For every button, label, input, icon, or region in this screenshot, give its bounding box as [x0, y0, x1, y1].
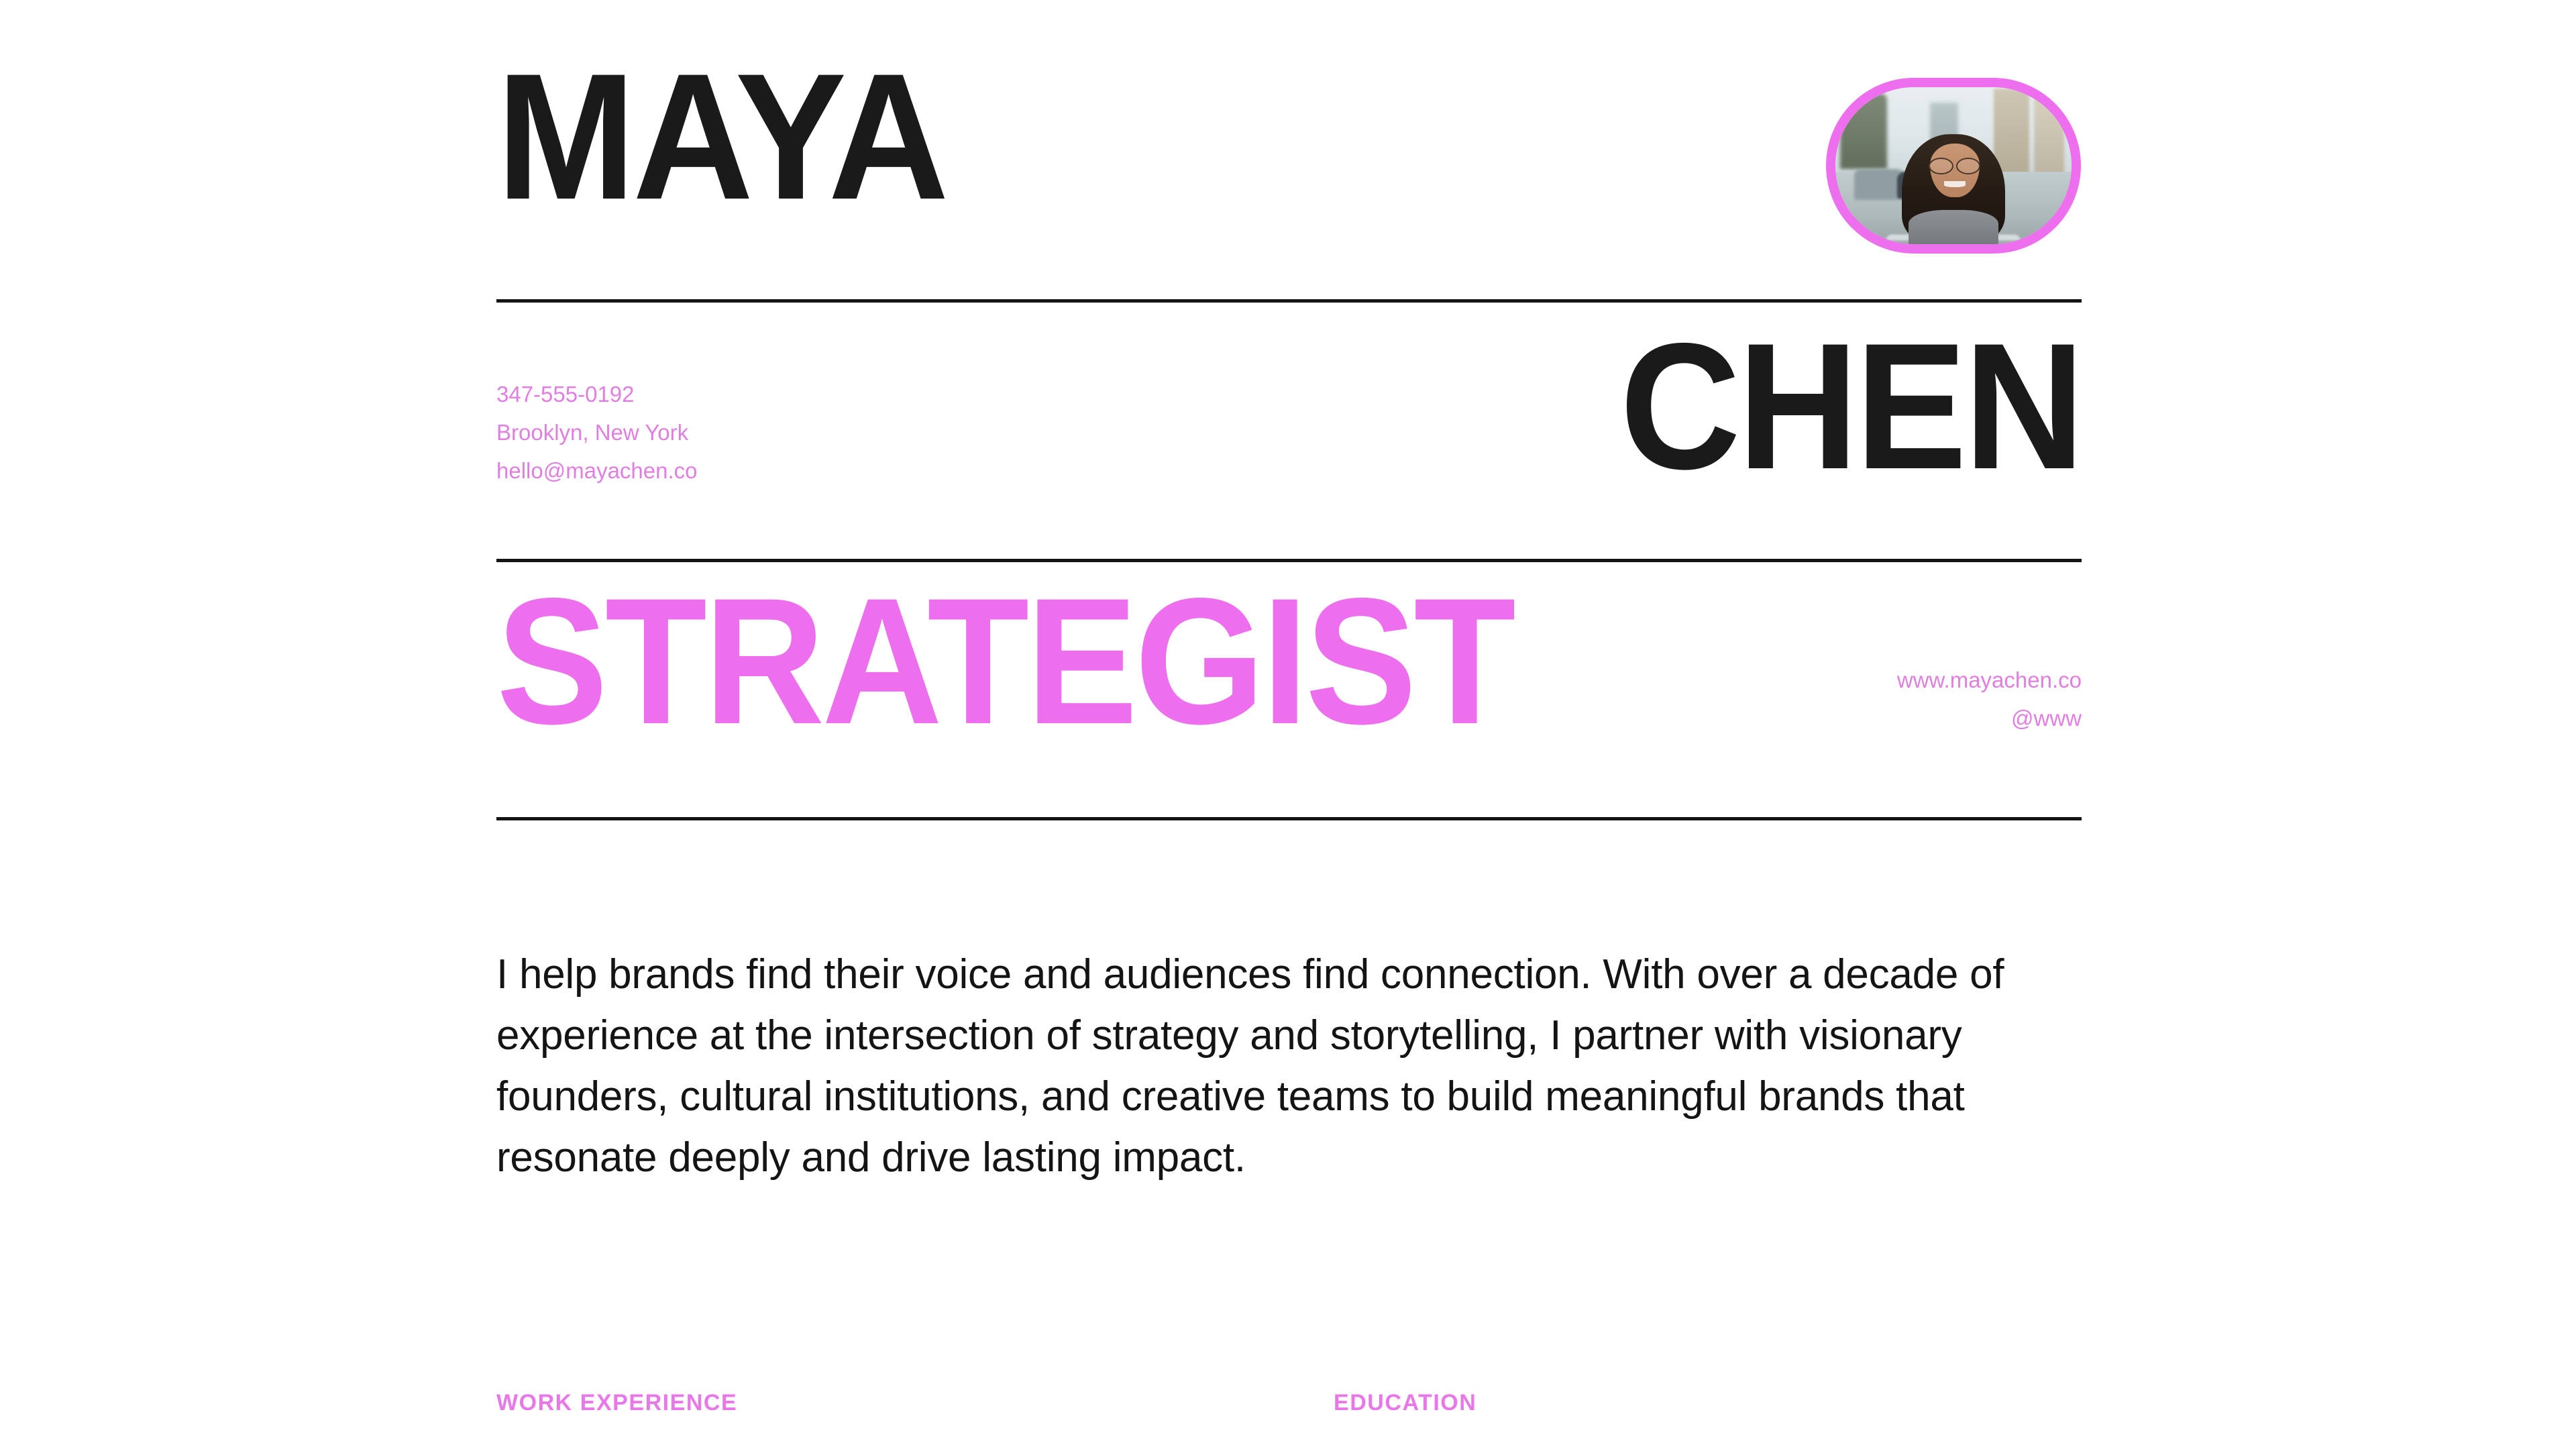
section-heading-education: EDUCATION [1334, 1390, 1477, 1416]
section-heading-work-experience: WORK EXPERIENCE [496, 1390, 737, 1416]
contact-phone[interactable]: 347-555-0192 [496, 376, 698, 414]
photo-building-right-2 [2034, 97, 2065, 175]
bio-paragraph: I help brands find their voice and audie… [496, 944, 2093, 1189]
divider-top [496, 299, 2082, 303]
photo-building-right-1 [1994, 89, 2029, 175]
contact-email[interactable]: hello@mayachen.co [496, 452, 698, 490]
photo-subject-smile [1944, 181, 1966, 186]
resume-page: MAYA 347-555-0192 Brooklyn, New York hel… [0, 0, 2576, 1449]
contact-location: Brooklyn, New York [496, 414, 698, 452]
links-block: www.mayachen.co @www [1897, 661, 2082, 738]
role-title-heading: STRATEGIST [496, 589, 1513, 733]
avatar-photo [1835, 87, 2072, 244]
photo-subject-torso [1909, 210, 1998, 244]
avatar [1826, 78, 2081, 254]
divider-bottom [496, 817, 2082, 820]
photo-tree-left [1840, 93, 1887, 168]
glasses-icon [1929, 158, 1980, 172]
link-website[interactable]: www.mayachen.co [1897, 661, 2082, 700]
link-handle[interactable]: @www [1897, 700, 2082, 738]
first-name-heading: MAYA [496, 64, 946, 208]
contact-block: 347-555-0192 Brooklyn, New York hello@ma… [496, 376, 698, 490]
last-name-heading: CHEN [1620, 334, 2082, 478]
